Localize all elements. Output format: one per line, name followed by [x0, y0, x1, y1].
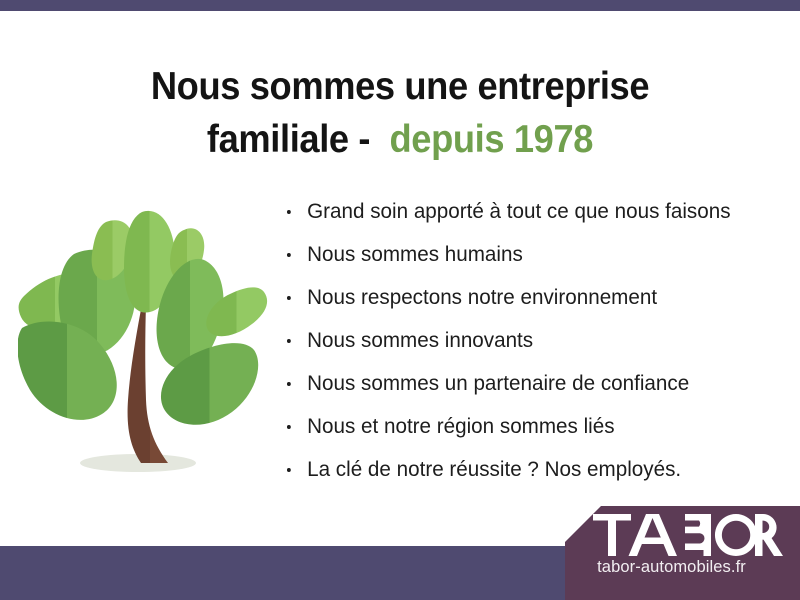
list-item: Nous et notre région sommes liés [286, 405, 766, 448]
bullet-dot-icon [287, 382, 291, 386]
list-item: Nous sommes un partenaire de confiance [286, 362, 766, 405]
bullet-dot-icon [287, 253, 291, 257]
top-frame-bar [0, 0, 800, 11]
list-item-label: Nous sommes innovants [307, 328, 533, 352]
list-item-label: Nous respectons notre environnement [307, 285, 657, 309]
list-item: Nous respectons notre environnement [286, 276, 766, 319]
page-title: Nous sommes une entreprisefamiliale - de… [65, 60, 735, 166]
tabor-wordmark-icon [593, 514, 783, 556]
list-item-label: Grand soin apporté à tout ce que nous fa… [307, 199, 730, 223]
list-item: Nous sommes humains [286, 233, 766, 276]
brand-url[interactable]: tabor-automobiles.fr [565, 558, 778, 577]
bullet-dot-icon [287, 210, 291, 214]
bullet-dot-icon [287, 296, 291, 300]
list-item: La clé de notre réussite ? Nos employés. [286, 448, 766, 491]
values-bullet-list: Grand soin apporté à tout ce que nous fa… [286, 190, 786, 491]
headline-line-1: Nous sommes une entreprise [151, 65, 649, 108]
list-item-label: Nous et notre région sommes liés [307, 414, 614, 438]
list-item: Grand soin apporté à tout ce que nous fa… [286, 190, 766, 233]
list-item: Nous sommes innovants [286, 319, 766, 362]
bullet-dot-icon [287, 425, 291, 429]
list-item-label: Nous sommes humains [307, 242, 523, 266]
headline-accent: depuis 1978 [390, 118, 594, 161]
slide-canvas: Nous sommes une entreprisefamiliale - de… [0, 0, 800, 600]
bullet-dot-icon [287, 339, 291, 343]
brand-logo-panel[interactable]: tabor-automobiles.fr [565, 506, 800, 600]
list-item-label: La clé de notre réussite ? Nos employés. [307, 457, 681, 481]
headline-line-2-plain: familiale - [207, 118, 390, 161]
bullet-dot-icon [287, 468, 291, 472]
list-item-label: Nous sommes un partenaire de confiance [307, 371, 689, 395]
tree-illustration [18, 186, 270, 482]
